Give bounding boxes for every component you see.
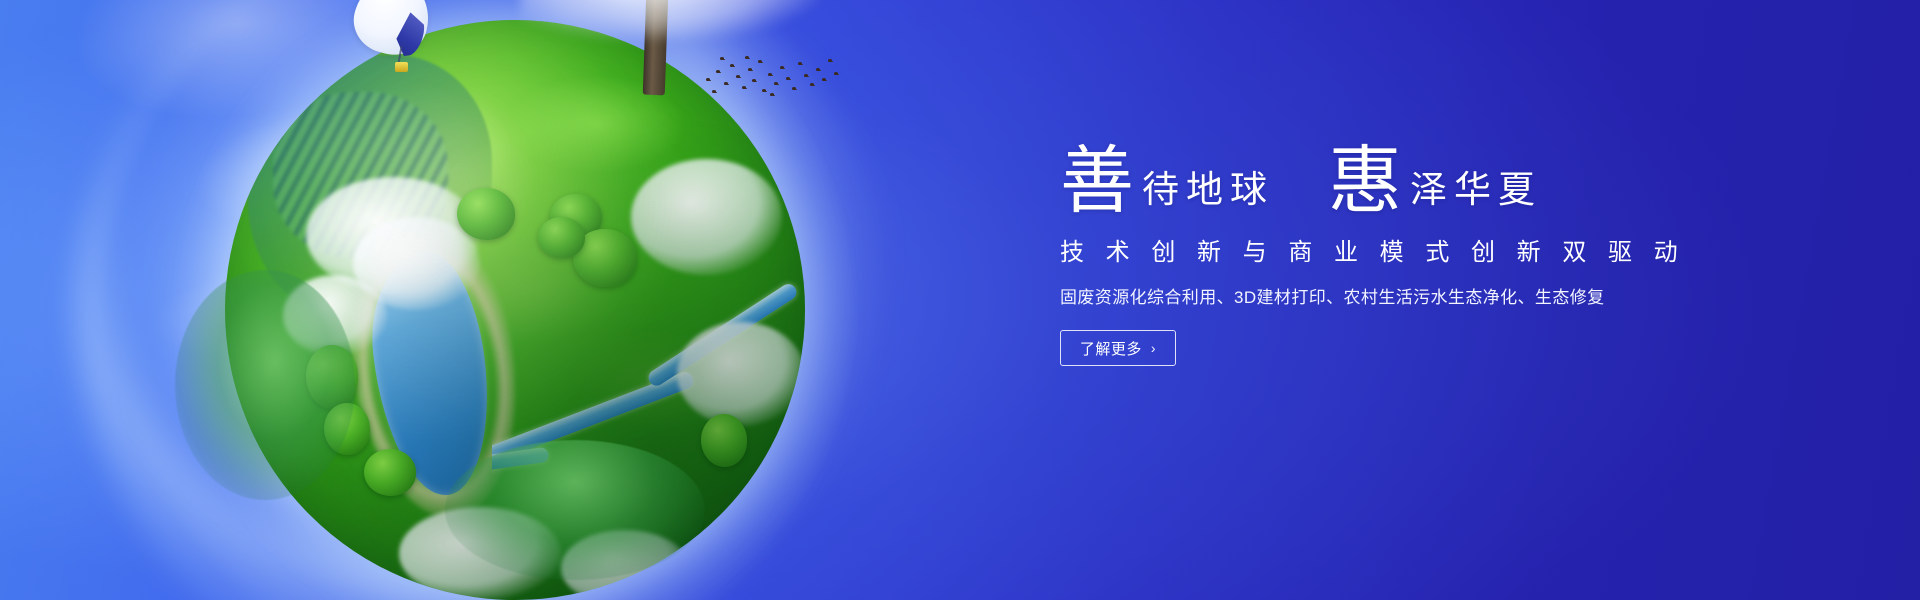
bird-flock-icon	[700, 48, 840, 98]
side-tree-silhouette	[175, 270, 355, 500]
learn-more-button[interactable]: 了解更多 ›	[1060, 330, 1176, 366]
headline-char-1: 善	[1060, 144, 1134, 218]
headline-text-2: 泽华夏	[1402, 171, 1542, 214]
side-tree-silhouette	[445, 440, 705, 580]
learn-more-label: 了解更多	[1080, 338, 1142, 359]
page-title: 善 待地球 惠 泽华夏	[1060, 140, 1700, 214]
headline-text-1: 待地球	[1134, 171, 1274, 214]
banner-description: 固废资源化综合利用、3D建材打印、农村生活污水生态净化、生态修复	[1060, 283, 1700, 308]
balloon-envelope	[347, 0, 437, 62]
hero-banner: 善 待地球 惠 泽华夏 技 术 创 新 与 商 业 模 式 创 新 双 驱 动 …	[0, 0, 1920, 600]
banner-content: 善 待地球 惠 泽华夏 技 术 创 新 与 商 业 模 式 创 新 双 驱 动 …	[1060, 140, 1700, 366]
balloon-basket	[395, 62, 408, 72]
chevron-right-icon: ›	[1151, 341, 1156, 355]
hot-air-balloon-icon	[355, 0, 433, 78]
headline-char-2: 惠	[1328, 144, 1402, 218]
banner-subtitle: 技 术 创 新 与 商 业 模 式 创 新 双 驱 动	[1060, 232, 1700, 267]
mist-overlay	[520, 0, 820, 40]
